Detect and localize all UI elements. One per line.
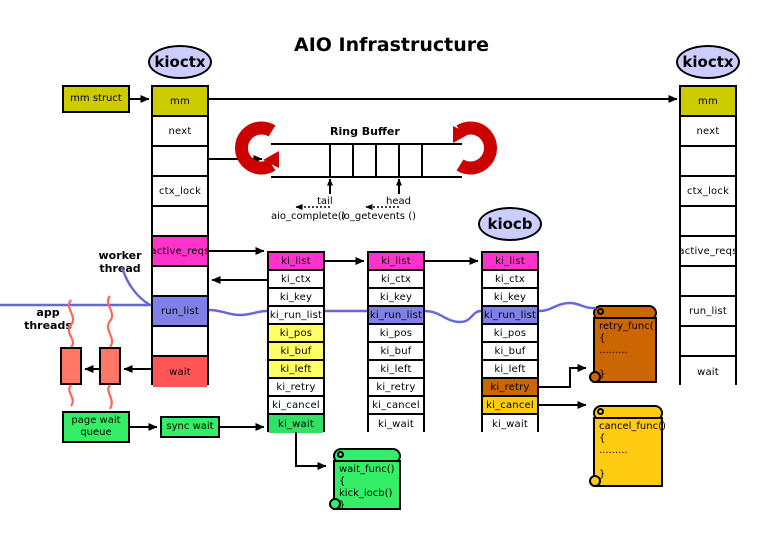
kioctx_left-row-blank-6 xyxy=(153,267,207,297)
kiocb_3-row-ki_list: ki_list xyxy=(483,253,537,271)
kioctx_right-row-active_reqs: active_reqs xyxy=(681,237,735,267)
worker-thread-line-seg1 xyxy=(209,310,267,315)
kioctx_left-row-run_list: run_list xyxy=(153,297,207,327)
kiocb_2-row-ki_retry: ki_retry xyxy=(369,379,423,397)
app-thread-squiggle-top-2 xyxy=(108,296,112,347)
wait-func-note: wait_func() { kick_iocb() } xyxy=(329,448,401,510)
kiocb_1-row-ki_left: ki_left xyxy=(269,361,323,379)
cancel-func-note: cancel_func() { ......... } xyxy=(589,405,663,487)
tag-kioctx-right: kioctx xyxy=(676,45,740,79)
kiocb_2-row-ki_run_list: ki_run_list xyxy=(369,307,423,325)
tag-kiocb: kiocb xyxy=(478,207,542,241)
mm-struct-box: mm struct xyxy=(62,85,130,113)
retry-func-note-curl-bottom xyxy=(589,371,601,383)
kiocb_3-row-ki_left: ki_left xyxy=(483,361,537,379)
ring-buffer-head-label: head xyxy=(386,196,411,207)
app-thread-block-2 xyxy=(99,347,121,385)
kiocb_1-row-ki_buf: ki_buf xyxy=(269,343,323,361)
kiocb_1-row-ki_cancel: ki_cancel xyxy=(269,397,323,415)
worker-thread-line-seg4 xyxy=(539,303,596,311)
kiocb_2-row-ki_wait: ki_wait xyxy=(369,415,423,433)
kioctx_right-row-blank-2 xyxy=(681,147,735,177)
kiocb_1-row-ki_wait: ki_wait xyxy=(269,415,323,433)
kioctx_left-row-active_reqs: active_reqs xyxy=(153,237,207,267)
kiocb_3-row-ki_run_list: ki_run_list xyxy=(483,307,537,325)
kioctx_left-row-wait: wait xyxy=(153,357,207,387)
retry-func-note-hole xyxy=(597,308,604,315)
kioctx_left-row-ctx_lock: ctx_lock xyxy=(153,177,207,207)
kiocb-1-struct: ki_listki_ctxki_keyki_run_listki_poski_b… xyxy=(267,251,325,432)
kioctx_right-row-wait: wait xyxy=(681,357,735,387)
cancel-func-note-curl-bottom xyxy=(589,475,601,487)
kioctx_left-row-blank-8 xyxy=(153,327,207,357)
cancel-func-note-body: cancel_func() { ......... } xyxy=(593,417,663,487)
kioctx_right-row-run_list: run_list xyxy=(681,297,735,327)
kiocb_1-row-ki_run_list: ki_run_list xyxy=(269,307,323,325)
diagram-canvas: AIO Infrastructure kioctx kiocb kioctx m… xyxy=(0,0,779,540)
app-thread-squiggle-bottom-2 xyxy=(108,385,111,409)
kiocb_3-row-ki_buf: ki_buf xyxy=(483,343,537,361)
app-thread-block-1 xyxy=(60,347,82,385)
kiocb_3-row-ki_retry: ki_retry xyxy=(483,379,537,397)
kioctx_right-row-mm: mm xyxy=(681,87,735,117)
ring-buffer-title: Ring Buffer xyxy=(330,125,400,138)
kioctx_left-row-mm: mm xyxy=(153,87,207,117)
kiocb_1-row-ki_key: ki_key xyxy=(269,289,323,307)
kiocb_1-row-ki_retry: ki_retry xyxy=(269,379,323,397)
retry-func-note: retry_func() { ......... } xyxy=(589,305,657,383)
worker-thread-line-seg3 xyxy=(425,311,481,322)
kioctx_right-row-blank-4 xyxy=(681,207,735,237)
app-thread-squiggle-bottom-1 xyxy=(69,385,72,406)
kiocb-2-struct: ki_listki_ctxki_keyki_run_listki_poski_b… xyxy=(367,251,425,432)
page-wait-queue-box: page wait queue xyxy=(62,411,130,443)
kiocb-3-struct: ki_listki_ctxki_keyki_run_listki_poski_b… xyxy=(481,251,539,432)
kioctx_left-row-blank-2 xyxy=(153,147,207,177)
wait-func-note-hole xyxy=(337,451,344,458)
kioctx_left-row-blank-4 xyxy=(153,207,207,237)
io-getevents-label: io_getevents () xyxy=(341,211,416,222)
kiocb_2-row-ki_buf: ki_buf xyxy=(369,343,423,361)
kioctx-right-struct: mmnextctx_lockactive_reqsrun_listwait xyxy=(679,85,737,385)
kioctx_right-row-ctx_lock: ctx_lock xyxy=(681,177,735,207)
kiocb_2-row-ki_list: ki_list xyxy=(369,253,423,271)
ring-buffer-tail-label: tail xyxy=(317,196,333,207)
ring-rotate-arrow-right xyxy=(453,126,491,168)
wait-func-note-body: wait_func() { kick_iocb() } xyxy=(333,460,401,510)
kioctx-left-struct: mmnextctx_lockactive_reqsrun_listwait xyxy=(151,85,209,385)
kiocb_3-row-ki_ctx: ki_ctx xyxy=(483,271,537,289)
kioctx_right-row-blank-8 xyxy=(681,327,735,357)
kiocb_2-row-ki_pos: ki_pos xyxy=(369,325,423,343)
kiocb_2-row-ki_left: ki_left xyxy=(369,361,423,379)
kiocb_2-row-ki_key: ki_key xyxy=(369,289,423,307)
retry-func-note-body: retry_func() { ......... } xyxy=(593,317,657,383)
kiocb_3-row-ki_key: ki_key xyxy=(483,289,537,307)
sync-wait-box: sync wait xyxy=(160,416,220,438)
kiocb_2-row-ki_ctx: ki_ctx xyxy=(369,271,423,289)
worker-thread-label: worker thread xyxy=(92,249,148,275)
kiocb_1-row-ki_pos: ki_pos xyxy=(269,325,323,343)
kiocb_1-row-ki_list: ki_list xyxy=(269,253,323,271)
kiocb_2-row-ki_cancel: ki_cancel xyxy=(369,397,423,415)
tag-kioctx-left: kioctx xyxy=(148,45,212,79)
kioctx_left-row-next: next xyxy=(153,117,207,147)
app-threads-label: app threads xyxy=(20,306,76,332)
aio-complete-label: aio_complete() xyxy=(271,211,346,222)
cancel-func-note-hole xyxy=(597,408,604,415)
kiocb_3-row-ki_wait: ki_wait xyxy=(483,415,537,433)
page-title: AIO Infrastructure xyxy=(294,34,489,56)
ring-rotate-arrow-left xyxy=(241,128,279,168)
wait-func-note-curl-bottom xyxy=(329,498,341,510)
kiocb_3-row-ki_cancel: ki_cancel xyxy=(483,397,537,415)
kioctx_right-row-next: next xyxy=(681,117,735,147)
kiocb_3-row-ki_pos: ki_pos xyxy=(483,325,537,343)
kiocb_1-row-ki_ctx: ki_ctx xyxy=(269,271,323,289)
arrow-kiwait-to-waitfunc xyxy=(296,432,326,466)
arrow-kiretry-to-retryfunc xyxy=(539,368,586,387)
kioctx_right-row-blank-6 xyxy=(681,267,735,297)
